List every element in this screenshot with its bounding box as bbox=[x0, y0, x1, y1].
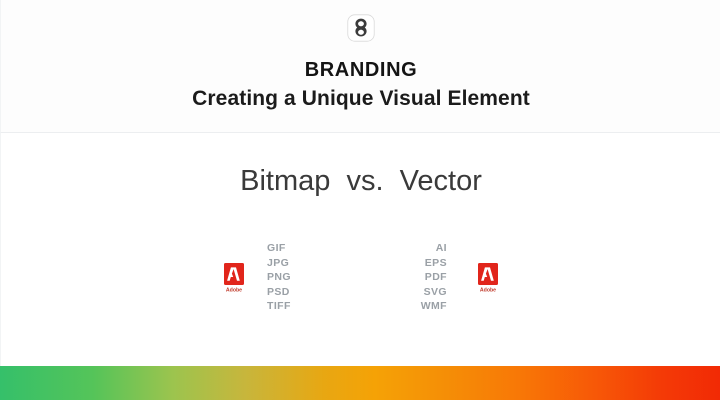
slide-canvas: BRANDING Creating a Unique Visual Elemen… bbox=[0, 0, 720, 400]
format-item: EPS bbox=[397, 256, 447, 271]
page-title: BRANDING bbox=[1, 58, 720, 82]
svg-text:Adobe: Adobe bbox=[480, 288, 496, 294]
adobe-creative-cloud-icon bbox=[347, 14, 375, 42]
format-item: SVG bbox=[397, 285, 447, 300]
main-heading: Bitmap vs. Vector bbox=[1, 163, 720, 199]
format-item: JPG bbox=[267, 256, 291, 271]
slide-body: Bitmap vs. Vector Adobe GIF JPG PNG PSD … bbox=[0, 133, 720, 366]
format-item: AI bbox=[397, 241, 447, 256]
gradient-footer-bar bbox=[0, 366, 720, 400]
adobe-logo-icon-right: Adobe bbox=[475, 263, 501, 295]
format-item: PNG bbox=[267, 270, 291, 285]
page-subtitle: Creating a Unique Visual Element bbox=[1, 86, 720, 112]
formats-comparison-row: Adobe GIF JPG PNG PSD TIFF AI EPS PDF SV… bbox=[1, 241, 720, 331]
adobe-logo-icon-left: Adobe bbox=[221, 263, 247, 295]
slide-header: BRANDING Creating a Unique Visual Elemen… bbox=[0, 0, 720, 133]
format-item: GIF bbox=[267, 241, 291, 256]
vector-format-list: AI EPS PDF SVG WMF bbox=[397, 241, 447, 314]
format-item: PSD bbox=[267, 285, 291, 300]
format-item: TIFF bbox=[267, 299, 291, 314]
format-item: PDF bbox=[397, 270, 447, 285]
format-item: WMF bbox=[397, 299, 447, 314]
svg-text:Adobe: Adobe bbox=[226, 288, 242, 294]
bitmap-format-list: GIF JPG PNG PSD TIFF bbox=[267, 241, 291, 314]
